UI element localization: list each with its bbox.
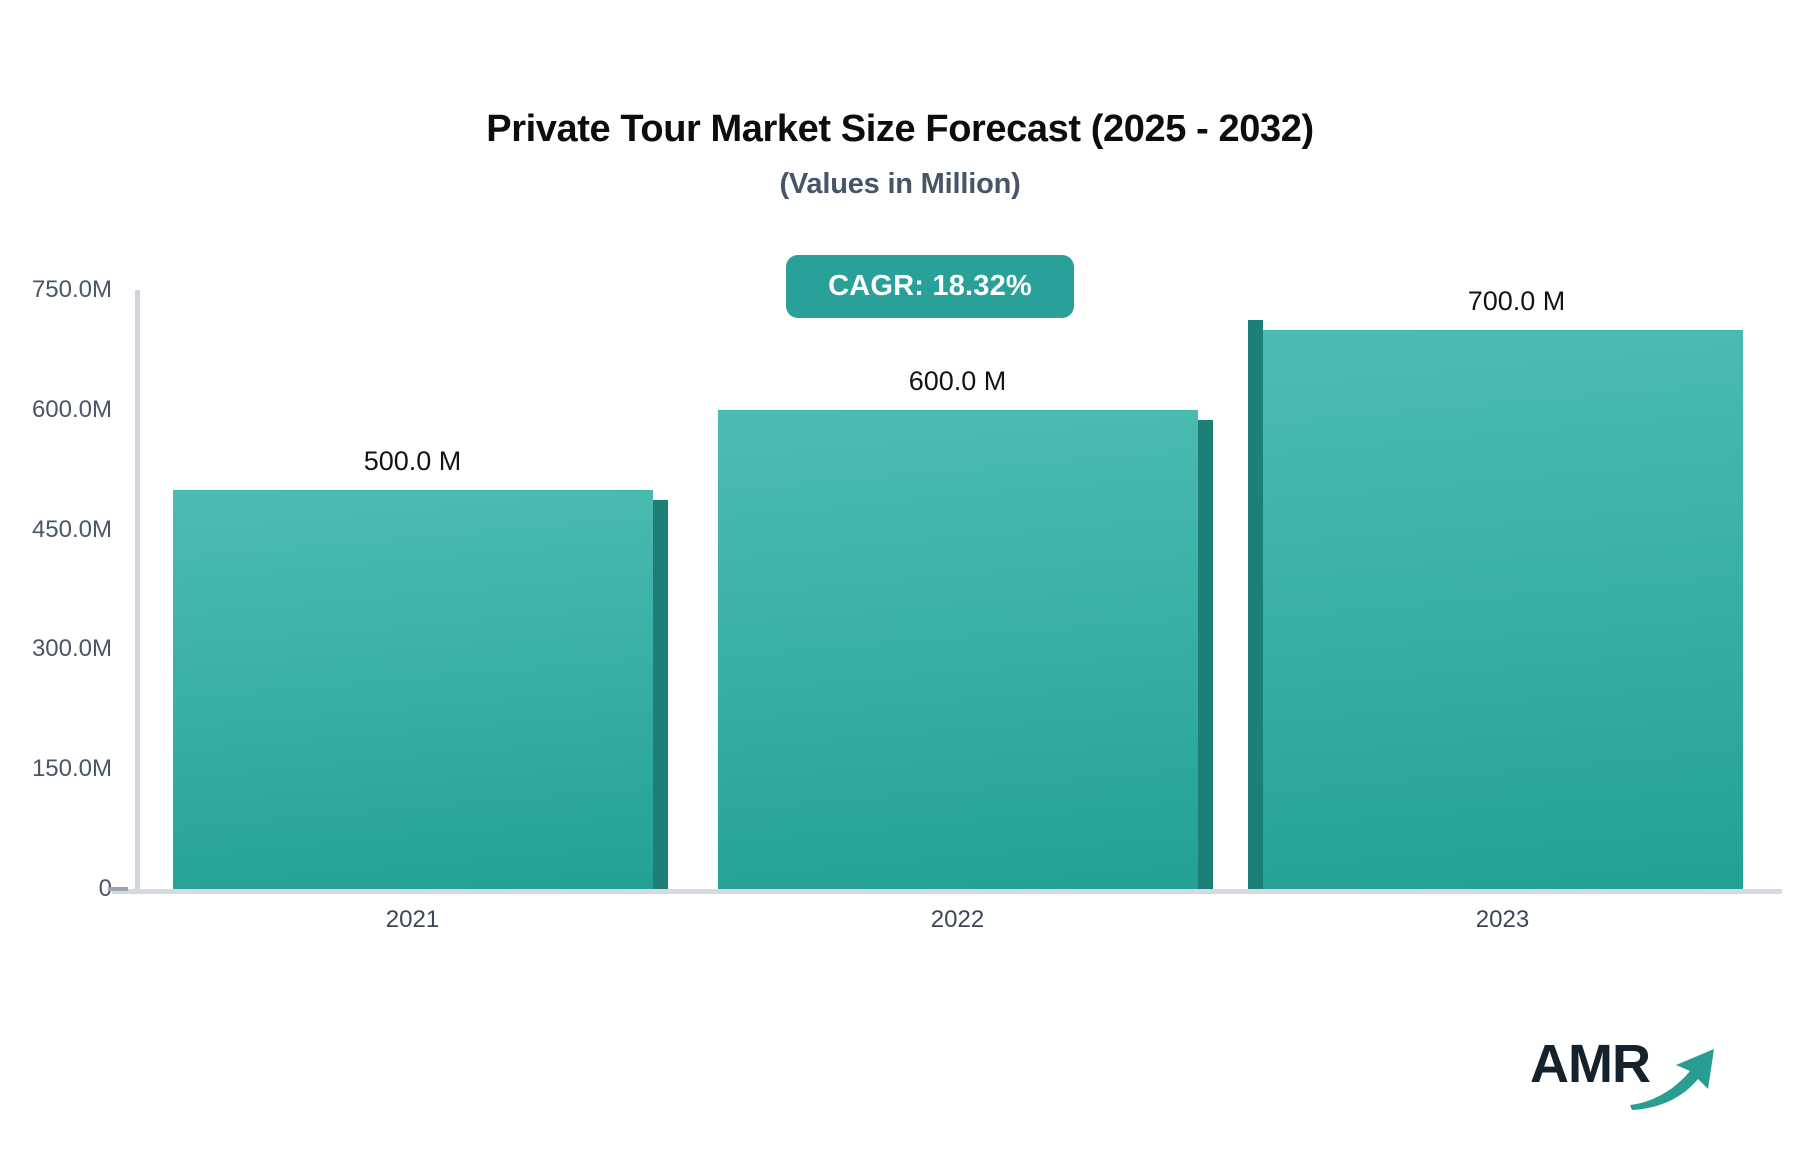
bar-top-bevel [1248, 330, 1263, 340]
bar-front-face [173, 490, 653, 889]
bar-side-face [653, 500, 668, 889]
bar-front-face [718, 410, 1198, 889]
bar-top-bevel [653, 879, 668, 889]
y-axis-tick-label: 0 [0, 875, 112, 903]
bar [718, 410, 1198, 889]
bar-value-label: 600.0 M [909, 366, 1007, 397]
amr-logo: AMR [1530, 1035, 1730, 1115]
y-axis-tick-label: 150.0M [0, 755, 112, 783]
bar-value-label: 700.0 M [1468, 286, 1566, 317]
x-axis-tick-label: 2021 [386, 906, 439, 934]
plot-area: 750.0M600.0M450.0M300.0M150.0M0 500.0 M6… [0, 0, 1800, 1156]
bar-side-face [1198, 420, 1213, 889]
chart-container: Private Tour Market Size Forecast (2025 … [0, 0, 1800, 1156]
y-axis-tick-mark [108, 887, 128, 891]
x-axis-tick-label: 2023 [1476, 906, 1529, 934]
bar-front-face [1263, 330, 1743, 889]
bar-top-bevel [1198, 879, 1213, 889]
y-axis-tick-label: 300.0M [0, 635, 112, 663]
bar [173, 490, 653, 889]
y-axis-line [135, 290, 140, 893]
x-axis-line [112, 889, 1782, 894]
bar-side-face [1248, 320, 1263, 889]
y-axis-tick-label: 750.0M [0, 276, 112, 304]
y-axis-tick-label: 600.0M [0, 396, 112, 424]
growth-arrow-icon [1628, 1043, 1728, 1113]
y-axis-tick-label: 450.0M [0, 516, 112, 544]
bar [1263, 330, 1743, 889]
x-axis-tick-label: 2022 [931, 906, 984, 934]
bar-value-label: 500.0 M [364, 446, 462, 477]
